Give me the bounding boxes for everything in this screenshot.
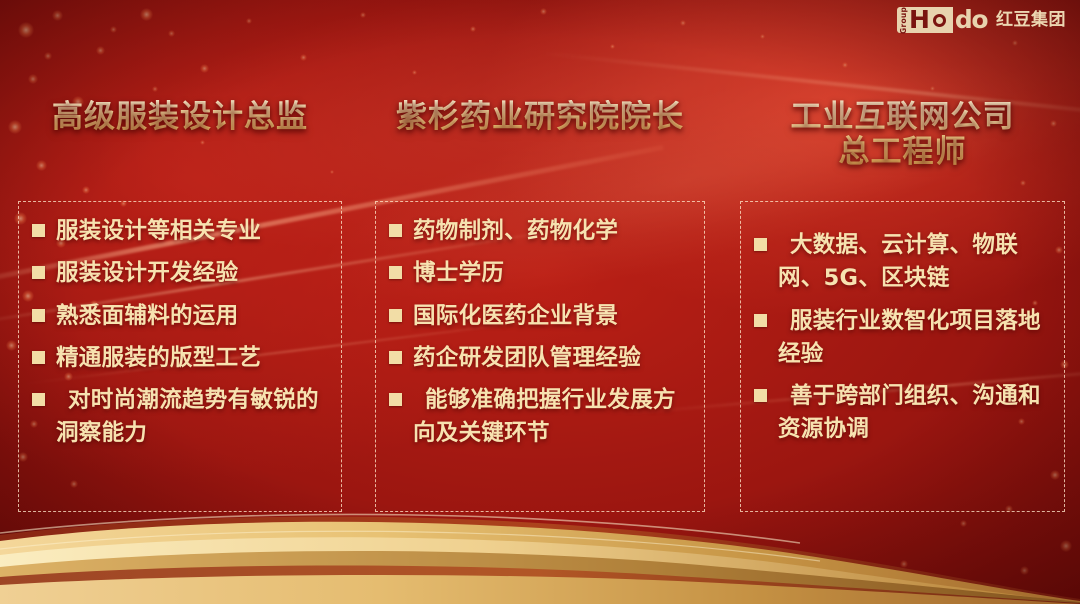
column-title-line: 高级服装设计总监 xyxy=(18,100,342,135)
requirement-text: 服装设计等相关专业 xyxy=(56,215,261,248)
requirement-item: 服装行业数智化项目落地经验 xyxy=(746,305,1055,372)
requirement-item: 精通服装的版型工艺 xyxy=(24,342,332,375)
requirement-text: 服装设计开发经验 xyxy=(56,257,238,290)
requirement-item: 对时尚潮流趋势有敏锐的洞察能力 xyxy=(24,384,332,451)
logo-plate: Group H xyxy=(897,7,952,33)
bullet-square-icon xyxy=(389,224,402,237)
requirement-item: 服装设计开发经验 xyxy=(24,257,332,290)
logo-letter-h: H xyxy=(909,9,929,31)
slide-canvas: Group H do 红豆集团 高级服装设计总监服装设计等相关专业服装设计开发经… xyxy=(0,0,1080,604)
requirement-item: 药企研发团队管理经验 xyxy=(381,342,695,375)
column-title-line: 总工程师 xyxy=(740,135,1065,170)
requirement-item: 国际化医药企业背景 xyxy=(381,300,695,333)
bullet-square-icon xyxy=(389,309,402,322)
bullet-square-icon xyxy=(32,266,45,279)
requirement-text: 对时尚潮流趋势有敏锐的洞察能力 xyxy=(56,384,332,451)
requirement-item: 服装设计等相关专业 xyxy=(24,215,332,248)
bullet-square-icon xyxy=(754,389,767,402)
requirement-text: 药物制剂、药物化学 xyxy=(413,215,618,248)
requirement-text: 善于跨部门组织、沟通和资源协调 xyxy=(778,380,1055,447)
requirements-column-1: 高级服装设计总监服装设计等相关专业服装设计开发经验熟悉面辅料的运用精通服装的版型… xyxy=(18,0,342,604)
column-title-line: 紫杉药业研究院院长 xyxy=(375,100,705,135)
requirement-text: 大数据、云计算、物联网、5G、区块链 xyxy=(778,229,1055,296)
requirement-item: 博士学历 xyxy=(381,257,695,290)
requirement-item: 能够准确把握行业发展方向及关键环节 xyxy=(381,384,695,451)
column-title: 工业互联网公司总工程师 xyxy=(740,100,1065,169)
bullet-square-icon xyxy=(754,314,767,327)
logo-chinese-name: 红豆集团 xyxy=(996,12,1066,29)
requirement-item: 熟悉面辅料的运用 xyxy=(24,300,332,333)
requirement-text: 国际化医药企业背景 xyxy=(413,300,618,333)
logo-mark: Group H do xyxy=(897,7,987,33)
brand-logo[interactable]: Group H do 红豆集团 xyxy=(897,7,1066,33)
bullet-square-icon xyxy=(32,351,45,364)
requirement-item: 善于跨部门组织、沟通和资源协调 xyxy=(746,380,1055,447)
bullet-square-icon xyxy=(32,309,45,322)
requirements-columns: 高级服装设计总监服装设计等相关专业服装设计开发经验熟悉面辅料的运用精通服装的版型… xyxy=(0,0,1080,604)
bullet-square-icon xyxy=(32,393,45,406)
bullet-square-icon xyxy=(389,351,402,364)
requirement-item: 药物制剂、药物化学 xyxy=(381,215,695,248)
requirement-text: 服装行业数智化项目落地经验 xyxy=(778,305,1055,372)
requirement-text: 药企研发团队管理经验 xyxy=(413,342,641,375)
bullet-square-icon xyxy=(389,393,402,406)
column-title: 紫杉药业研究院院长 xyxy=(375,100,705,135)
requirements-list: 药物制剂、药物化学博士学历国际化医药企业背景药企研发团队管理经验能够准确把握行业… xyxy=(375,201,705,460)
requirement-text: 博士学历 xyxy=(413,257,504,290)
bullet-square-icon xyxy=(389,266,402,279)
bullet-square-icon xyxy=(32,224,45,237)
logo-letter-o-icon xyxy=(929,9,951,31)
requirements-list: 大数据、云计算、物联网、5G、区块链服装行业数智化项目落地经验善于跨部门组织、沟… xyxy=(740,215,1065,456)
requirements-column-2: 紫杉药业研究院院长药物制剂、药物化学博士学历国际化医药企业背景药企研发团队管理经… xyxy=(375,0,705,604)
requirement-item: 大数据、云计算、物联网、5G、区块链 xyxy=(746,229,1055,296)
requirement-text: 能够准确把握行业发展方向及关键环节 xyxy=(413,384,695,451)
requirements-list: 服装设计等相关专业服装设计开发经验熟悉面辅料的运用精通服装的版型工艺对时尚潮流趋… xyxy=(18,201,342,460)
requirement-text: 精通服装的版型工艺 xyxy=(56,342,261,375)
bullet-square-icon xyxy=(754,238,767,251)
requirements-column-3: 工业互联网公司总工程师大数据、云计算、物联网、5G、区块链服装行业数智化项目落地… xyxy=(740,0,1065,604)
logo-group-label: Group xyxy=(899,9,909,31)
column-title-line: 工业互联网公司 xyxy=(740,100,1065,135)
column-title: 高级服装设计总监 xyxy=(18,100,342,135)
requirement-text: 熟悉面辅料的运用 xyxy=(56,300,238,333)
logo-letters-do: do xyxy=(955,7,987,33)
